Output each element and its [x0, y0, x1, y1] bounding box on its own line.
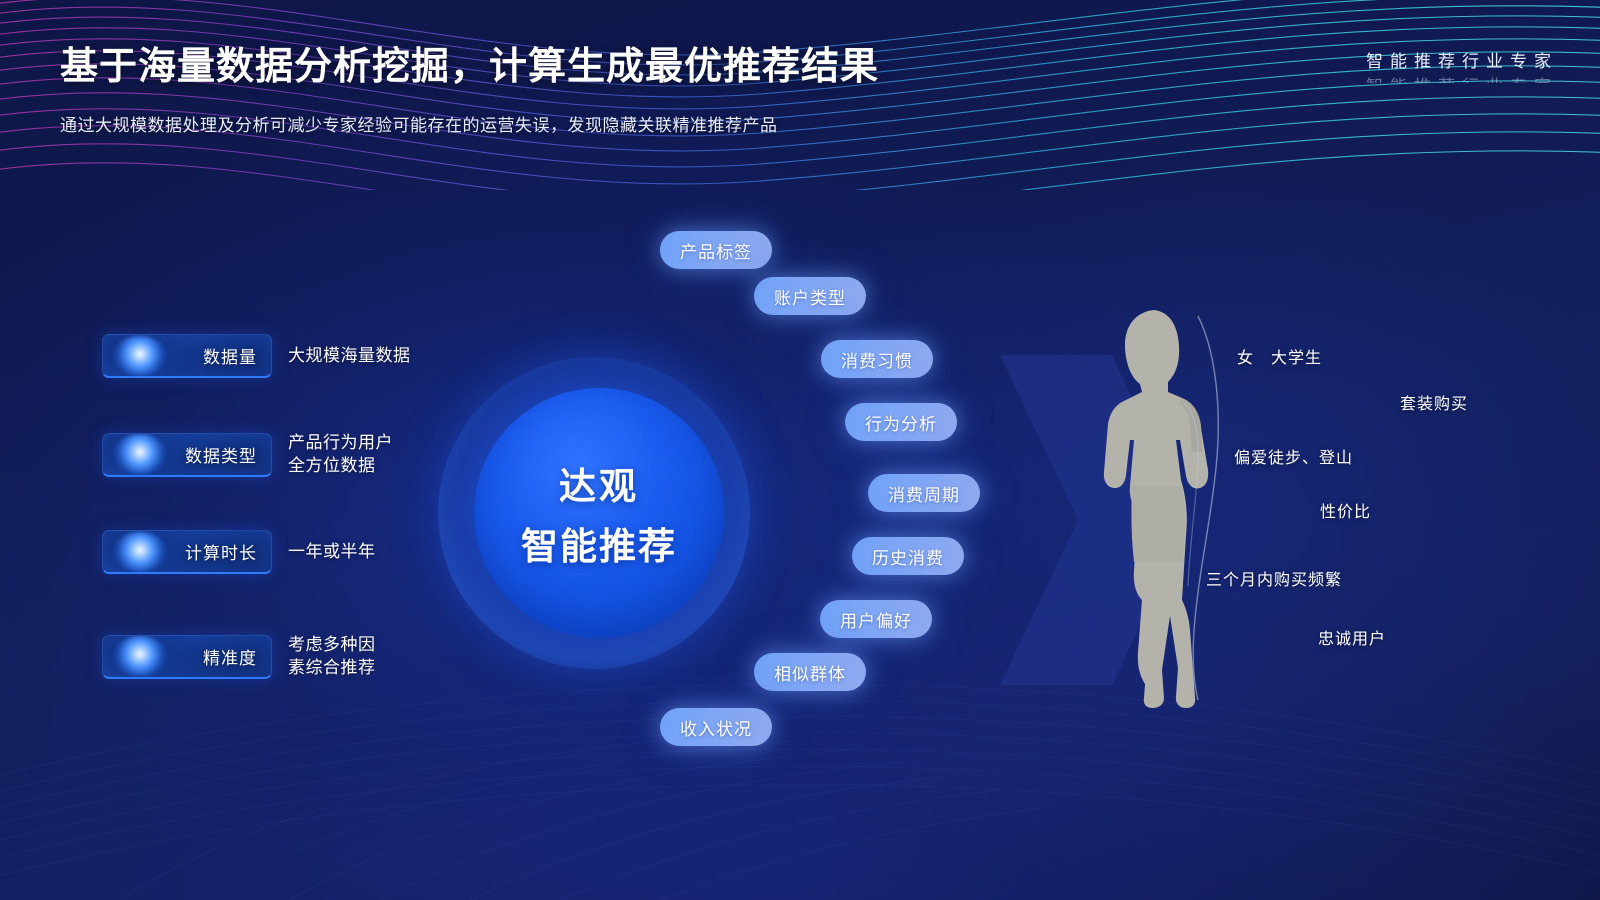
profile-label-4: 三个月内购买频繁: [1206, 566, 1342, 590]
user-silhouette-icon: [1082, 300, 1232, 710]
glow-orb-icon: [113, 532, 167, 572]
glow-orb-icon: [113, 636, 167, 676]
glow-orb-icon: [113, 336, 167, 376]
feature-row-0: 数据量 大规模海量数据: [102, 334, 411, 378]
feature-pill-0: 数据量: [102, 334, 272, 378]
brand-tagline-ghost: 智能推荐行业专家: [1366, 72, 1558, 83]
profile-label-5: 忠诚用户: [1318, 625, 1386, 649]
tag-1[interactable]: 账户类型: [754, 277, 866, 315]
tag-4[interactable]: 消费周期: [868, 474, 980, 512]
tag-3[interactable]: 行为分析: [845, 403, 957, 441]
tag-8[interactable]: 收入状况: [660, 708, 772, 746]
feature-row-1: 数据类型 产品行为用户 全方位数据: [102, 432, 393, 478]
feature-desc-1: 产品行为用户 全方位数据: [288, 432, 393, 478]
feature-label-0: 数据量: [203, 343, 257, 368]
feature-label-1: 数据类型: [185, 442, 257, 467]
tag-5[interactable]: 历史消费: [852, 537, 964, 575]
feature-label-2: 计算时长: [185, 539, 257, 564]
feature-pill-1: 数据类型: [102, 433, 272, 477]
tag-7[interactable]: 相似群体: [754, 653, 866, 691]
tag-6[interactable]: 用户偏好: [820, 600, 932, 638]
hub-line-1: 达观: [559, 456, 639, 510]
tag-0[interactable]: 产品标签: [660, 231, 772, 269]
feature-desc-3: 考虑多种因 素综合推荐: [288, 634, 376, 680]
hub-circle: 达观 智能推荐: [474, 388, 724, 638]
feature-row-2: 计算时长 一年或半年: [102, 530, 376, 574]
feature-pill-3: 精准度: [102, 635, 272, 679]
profile-label-0: 女 大学生: [1237, 344, 1322, 368]
glow-orb-icon: [113, 434, 167, 474]
feature-desc-0: 大规模海量数据: [288, 345, 411, 368]
feature-desc-2: 一年或半年: [288, 541, 376, 564]
hub-line-2: 智能推荐: [521, 516, 677, 570]
page-subtitle: 通过大规模数据处理及分析可减少专家经验可能存在的运营失误，发现隐藏关联精准推荐产…: [60, 111, 778, 136]
profile-label-3: 性价比: [1320, 498, 1371, 522]
top-wave-decoration: [0, 0, 1600, 190]
page-title: 基于海量数据分析挖掘，计算生成最优推荐结果: [60, 35, 879, 90]
profile-label-1: 套装购买: [1400, 390, 1468, 414]
brand-tagline: 智能推荐行业专家: [1366, 47, 1558, 72]
slide-canvas: 基于海量数据分析挖掘，计算生成最优推荐结果 通过大规模数据处理及分析可减少专家经…: [0, 0, 1600, 900]
feature-row-3: 精准度 考虑多种因 素综合推荐: [102, 634, 376, 680]
feature-label-3: 精准度: [203, 644, 257, 669]
tag-2[interactable]: 消费习惯: [821, 340, 933, 378]
profile-label-2: 偏爱徒步、登山: [1234, 444, 1353, 468]
feature-pill-2: 计算时长: [102, 530, 272, 574]
